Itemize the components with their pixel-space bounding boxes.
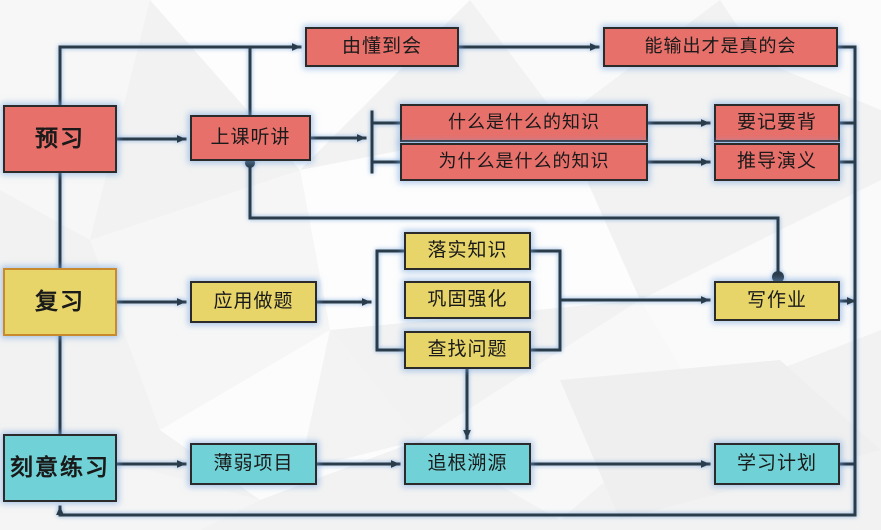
node-label: 预习 [35, 126, 85, 151]
node-youdong[interactable]: 由懂到会 [305, 27, 459, 67]
node-label: 落实知识 [427, 241, 507, 262]
node-label: 为什么是什么的知识 [439, 152, 610, 172]
node-yaoji[interactable]: 要记要背 [714, 104, 840, 142]
node-luoshi[interactable]: 落实知识 [404, 232, 531, 270]
node-label: 薄弱项目 [213, 454, 293, 475]
node-label: 追根溯源 [427, 454, 507, 475]
node-weishenme[interactable]: 为什么是什么的知识 [400, 143, 648, 181]
node-xuexi[interactable]: 学习计划 [714, 443, 840, 485]
node-label: 复习 [35, 289, 85, 314]
flowchart-canvas: 预习复习刻意练习由懂到会能输出才是真的会上课听讲什么是什么的知识为什么是什么的知… [0, 0, 881, 530]
stage-node-keyi[interactable]: 刻意练习 [3, 434, 117, 502]
node-nengshuchu[interactable]: 能输出才是真的会 [603, 27, 838, 67]
node-zhuigen[interactable]: 追根溯源 [404, 443, 531, 485]
node-shangke[interactable]: 上课听讲 [190, 115, 311, 161]
node-gonggu[interactable]: 巩固强化 [404, 281, 531, 319]
node-label: 什么是什么的知识 [448, 113, 600, 133]
node-yingyong[interactable]: 应用做题 [190, 281, 317, 323]
node-tuidao[interactable]: 推导演义 [714, 143, 840, 181]
node-label: 刻意练习 [10, 455, 110, 480]
node-label: 查找问题 [427, 340, 507, 361]
node-label: 写作业 [747, 291, 807, 312]
node-label: 由懂到会 [342, 37, 422, 58]
node-label: 要记要背 [737, 113, 817, 134]
node-label: 学习计划 [737, 454, 817, 475]
node-label: 推导演义 [737, 152, 817, 173]
node-label: 应用做题 [213, 292, 293, 313]
node-chazhao[interactable]: 查找问题 [404, 331, 531, 369]
node-xiezuoye[interactable]: 写作业 [714, 281, 840, 321]
node-shenme[interactable]: 什么是什么的知识 [400, 104, 648, 142]
node-label: 上课听讲 [210, 128, 290, 149]
node-baoruo[interactable]: 薄弱项目 [190, 443, 317, 485]
node-label: 能输出才是真的会 [645, 37, 797, 57]
node-label: 巩固强化 [427, 290, 507, 311]
stage-node-fuxi[interactable]: 复习 [3, 268, 117, 336]
stage-node-yuxi[interactable]: 预习 [3, 105, 117, 173]
